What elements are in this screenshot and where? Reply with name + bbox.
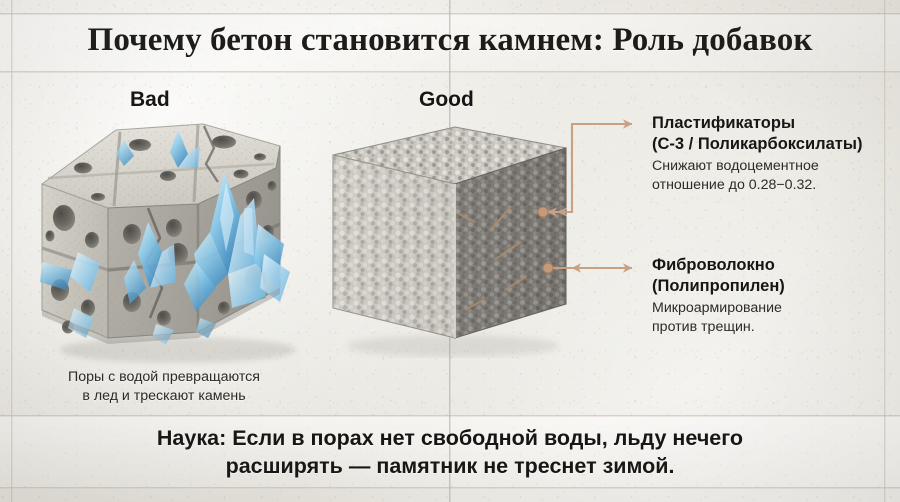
footer-conclusion: Наука: Если в порах нет свободной воды, … bbox=[0, 424, 900, 480]
bad-cube-caption: Поры с водой превращаются в лед и треска… bbox=[20, 368, 308, 406]
page-title: Почему бетон становится камнем: Роль доб… bbox=[0, 22, 900, 59]
footer-lead: Наука: bbox=[157, 426, 226, 450]
footer-line-2: расширять — памятник не треснет зимой. bbox=[0, 452, 900, 480]
cube-shadow bbox=[347, 335, 559, 357]
bad-caption-line-2: в лед и трескают камень bbox=[20, 387, 308, 406]
annotation-fiber-body-1: Микроармирование bbox=[652, 299, 892, 318]
annotation-fiber-heading: Фиброволокно bbox=[652, 255, 892, 276]
annotation-fiber: Фиброволокно (Полипропилен) Микроармиров… bbox=[652, 255, 892, 337]
annotation-plasticizers-body-1: Снижают водоцементное bbox=[652, 157, 892, 176]
cube-shadow bbox=[60, 337, 296, 363]
annotation-plasticizers-heading: Пластификаторы bbox=[652, 113, 892, 134]
column-label-good: Good bbox=[419, 88, 474, 112]
annotation-plasticizers: Пластификаторы (С-3 / Поликарбоксилаты) … bbox=[652, 113, 892, 195]
footer-line-1: Если в порах нет свободной воды, льду не… bbox=[226, 426, 743, 450]
annotation-fiber-body-2: против трещин. bbox=[652, 318, 892, 337]
annotation-plasticizers-subtitle: (С-3 / Поликарбоксилаты) bbox=[652, 134, 892, 155]
bad-concrete-cube-illustration bbox=[28, 112, 318, 370]
infographic-page: Почему бетон становится камнем: Роль доб… bbox=[0, 0, 900, 502]
bad-caption-line-1: Поры с водой превращаются bbox=[20, 368, 308, 387]
good-cube-left-face bbox=[333, 155, 455, 338]
annotation-fiber-subtitle: (Полипропилен) bbox=[652, 276, 892, 297]
annotation-plasticizers-body-2: отношение до 0.28−0.32. bbox=[652, 176, 892, 195]
good-concrete-cube-illustration bbox=[325, 118, 580, 358]
column-label-bad: Bad bbox=[130, 88, 170, 112]
